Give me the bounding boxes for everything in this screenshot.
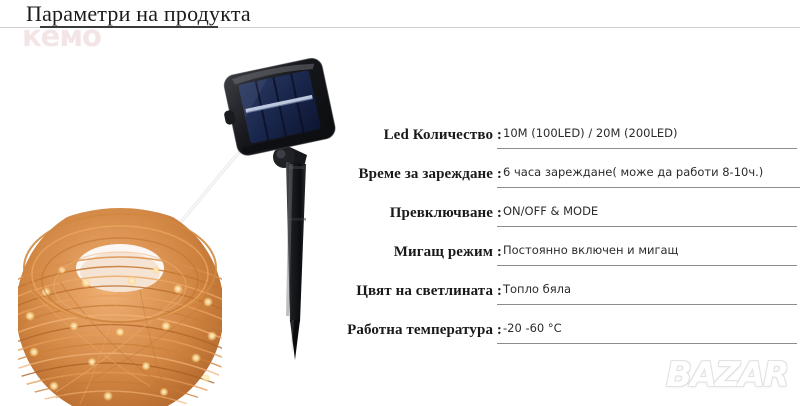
spec-value-field: 10M (100LED) / 20M (200LED) — [497, 122, 797, 149]
spec-table: Led Количество : 10M (100LED) / 20M (200… — [320, 120, 800, 354]
spec-row-light-color: Цвят на светлината : Топло бяла — [320, 276, 800, 315]
spec-value-field: Постоянно включен и мигащ — [497, 239, 797, 266]
spec-row-charging-time: Време за зареждане : 6 часа зареждане( м… — [320, 159, 800, 198]
spec-value-field: ON/OFF & MODE — [497, 200, 797, 227]
spec-value-field: 6 часа зареждане( може да работи 8-10ч.) — [497, 161, 800, 188]
spec-label: Време за зареждане : — [202, 165, 502, 183]
product-image — [0, 40, 350, 406]
spec-value: 10M (100LED) / 20M (200LED) — [497, 122, 797, 141]
spec-value-field: Топло бяла — [497, 278, 797, 305]
spec-label: Работна температура : — [202, 321, 502, 339]
spec-label: Led Количество : — [202, 126, 502, 144]
page-title: Параметри на продукта — [26, 1, 251, 27]
spec-label: Мигащ режим : — [202, 243, 502, 261]
spec-row-switching: Превключване : ON/OFF & MODE — [320, 198, 800, 237]
spec-value-field: -20 -60 °C — [497, 317, 797, 344]
spec-row-flashing-mode: Мигащ режим : Постоянно включен и мигащ — [320, 237, 800, 276]
spec-value: 6 часа зареждане( може да работи 8-10ч.) — [497, 161, 800, 180]
spec-value: ON/OFF & MODE — [497, 200, 797, 219]
spec-value: -20 -60 °C — [497, 317, 797, 336]
spec-label: Цвят на светлината : — [202, 282, 502, 300]
spec-row-led-quantity: Led Количество : 10M (100LED) / 20M (200… — [320, 120, 800, 159]
spec-value: Топло бяла — [497, 278, 797, 297]
spec-row-working-temperature: Работна температура : -20 -60 °C — [320, 315, 800, 354]
watermark-bazar: BAZAR — [666, 358, 788, 392]
copper-wire-led-coil — [16, 202, 224, 406]
spec-value: Постоянно включен и мигащ — [497, 239, 797, 258]
spec-label: Превключване : — [202, 204, 502, 222]
product-parameters-page: кемо Параметри на продукта — [0, 0, 800, 406]
